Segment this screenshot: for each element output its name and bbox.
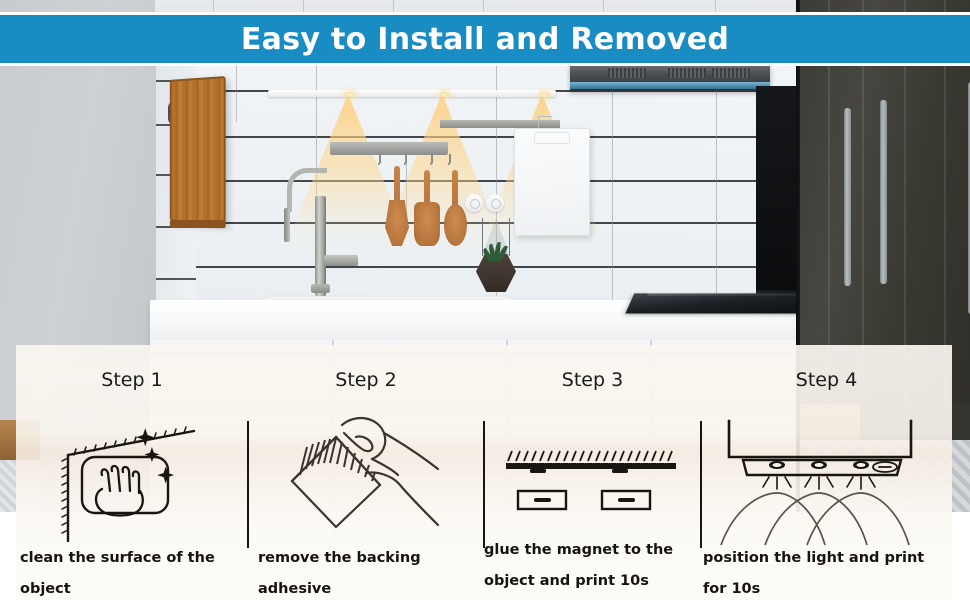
step-2-illustration (280, 411, 470, 546)
led-strip-light (268, 90, 556, 97)
range-hood-vent (608, 68, 646, 78)
led-dot (345, 92, 354, 97)
wall-outlet[interactable] (465, 194, 483, 212)
step-4-illustration (707, 407, 952, 552)
banner-title: Easy to Install and Removed (241, 22, 729, 57)
cabinet-handle[interactable] (880, 100, 887, 284)
wooden-spatula-head (414, 202, 440, 246)
faucet-column (315, 196, 326, 296)
white-cutting-board-handle-hole (534, 132, 570, 144)
rail-hook (430, 154, 433, 165)
step-4-caption: position the light and print for 10s (703, 543, 952, 600)
range-hood-glass-trim (570, 82, 770, 89)
faucet-handle (324, 255, 358, 266)
header-banner: Easy to Install and Removed (0, 12, 970, 66)
cooktop-reflection (647, 290, 809, 295)
cabinet-handle[interactable] (844, 108, 851, 286)
white-cutting-board (514, 128, 590, 236)
wooden-spoon-head (444, 204, 467, 246)
terrarium-plant (468, 218, 524, 294)
step-1-caption: clean the surface of the object (20, 543, 248, 600)
step-1: Step 1 (16, 345, 248, 600)
step-4: Step 4 (701, 345, 952, 600)
rail-hook (404, 154, 407, 165)
wall-outlet[interactable] (486, 194, 504, 212)
wood-cutting-board-foot (170, 220, 226, 228)
step-2: Step 2 (248, 345, 484, 600)
step-3-caption: glue the magnet to the object and print … (484, 535, 673, 597)
step-3-illustration (500, 441, 685, 521)
range-hood-vent (668, 68, 706, 78)
rail-hook (448, 154, 451, 165)
led-dot (440, 92, 449, 97)
step-2-title: Step 2 (248, 369, 484, 391)
step-1-illustration (44, 413, 234, 548)
installation-steps-panel: Step 1 (16, 345, 952, 600)
faucet-base (311, 284, 330, 293)
step-1-title: Step 1 (16, 369, 248, 391)
step-3: Step 3 (484, 345, 701, 600)
range-hood-vent (712, 68, 750, 78)
led-dot (540, 92, 549, 97)
product-infographic: Easy to Install and Removed Step 1 (0, 0, 970, 600)
step-2-caption: remove the backing adhesive (258, 543, 484, 600)
step-4-title: Step 4 (701, 369, 952, 391)
faucet-spout (284, 208, 290, 242)
wood-cutting-board (170, 76, 226, 225)
step-3-title: Step 3 (484, 369, 701, 391)
rail-hook (378, 154, 381, 165)
